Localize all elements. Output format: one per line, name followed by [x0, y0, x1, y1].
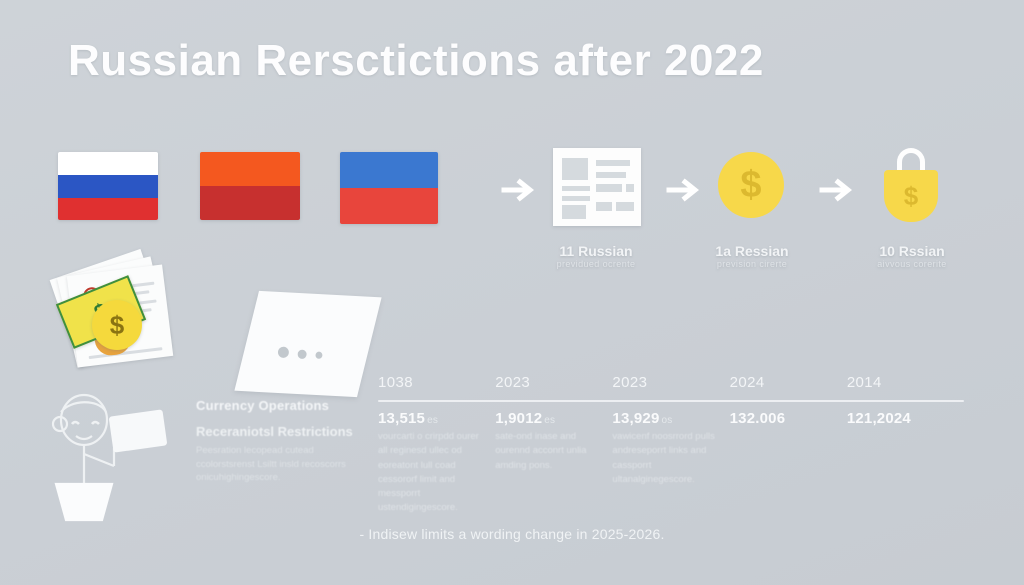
russian-flag-icon: [58, 152, 158, 220]
table-column-header: 2014: [847, 374, 964, 391]
page-title: Russian Rersctictions after 2022: [68, 36, 764, 86]
table-column-header: 1038: [378, 374, 495, 391]
icon-caption: 11 Russian previdued ocrente: [506, 244, 686, 269]
table-cell-value: 121,2024: [847, 410, 954, 427]
table-cell-description: vourcarti o crirpdd ourer all reginesd u…: [378, 430, 485, 516]
icon-caption-title: 1a Ressian: [662, 244, 842, 259]
icon-caption-subtitle: previdued ocrente: [506, 259, 686, 269]
table-cell: 13,515es vourcarti o crirpdd ourer all r…: [378, 410, 495, 516]
table-cell: 13,929os vawicenf noosrrord pulls andres…: [612, 410, 729, 516]
table-cell-value: 1,9012es: [495, 410, 602, 427]
table-cell-value: 132.006: [730, 410, 837, 427]
sidebar-heading: Currency Operations: [196, 398, 368, 413]
icon-caption-subtitle: aivvous corerite: [822, 259, 1002, 269]
table-cell-description: vawicenf noosrrord pulls andreseporrt li…: [612, 430, 719, 487]
table-cell: 121,2024: [847, 410, 964, 516]
icon-strip: $ $ $ $: [0, 140, 1024, 250]
table-cell-description: sate-ond inase and ourennd acconrt unlia…: [495, 430, 602, 473]
arrow-right-icon: [665, 178, 705, 202]
sidebar-text-block: Currency Operations Receraniotsl Restric…: [196, 398, 368, 485]
arrow-right-icon: [818, 178, 858, 202]
infographic-canvas: Russian Rersctictions after 2022 $ $ $: [0, 0, 1024, 585]
sidebar-body-text: Peesration lecopead cutead ccolorstsrens…: [196, 444, 368, 485]
table-data-row: 13,515es vourcarti o crirpdd ourer all r…: [378, 410, 964, 516]
table-cell-value: 13,929os: [612, 410, 719, 427]
table-column-header: 2023: [612, 374, 729, 391]
footer-note: - Indisew limits a wording change in 202…: [0, 526, 1024, 542]
table-cell: 132.006: [730, 410, 847, 516]
padlock-dollar-symbol: $: [884, 170, 938, 222]
icon-caption-title: 10 Rssian: [822, 244, 1002, 259]
data-table: 1038 2023 2023 2024 2014 13,515es vourca…: [378, 374, 964, 516]
sidebar-subheading: Receraniotsl Restrictions: [196, 425, 368, 440]
speaker-figure-illustration: [40, 392, 210, 522]
table-divider: [378, 400, 964, 402]
table-column-header: 2023: [495, 374, 612, 391]
icon-caption: 10 Rssian aivvous corerite: [822, 244, 1002, 269]
small-coin-icon: $: [92, 300, 142, 350]
note-card-illustration: [234, 291, 381, 397]
blue-red-flag-icon: [340, 152, 438, 224]
document-card-icon: [553, 148, 641, 226]
icon-caption: 1a Ressian prevision cirerte: [662, 244, 842, 269]
table-cell: 1,9012es sate-ond inase and ourennd acco…: [495, 410, 612, 516]
dollar-coin-icon: $: [718, 152, 784, 218]
orange-red-flag-icon: [200, 152, 300, 220]
arrow-right-icon: [500, 178, 540, 202]
icon-caption-title: 11 Russian: [506, 244, 686, 259]
table-column-header: 2024: [730, 374, 847, 391]
icon-caption-subtitle: prevision cirerte: [662, 259, 842, 269]
padlock-dollar-icon: $: [880, 148, 942, 222]
ellipsis-icon: [278, 346, 323, 359]
table-header-row: 1038 2023 2023 2024 2014: [378, 374, 964, 391]
table-cell-value: 13,515es: [378, 410, 485, 427]
